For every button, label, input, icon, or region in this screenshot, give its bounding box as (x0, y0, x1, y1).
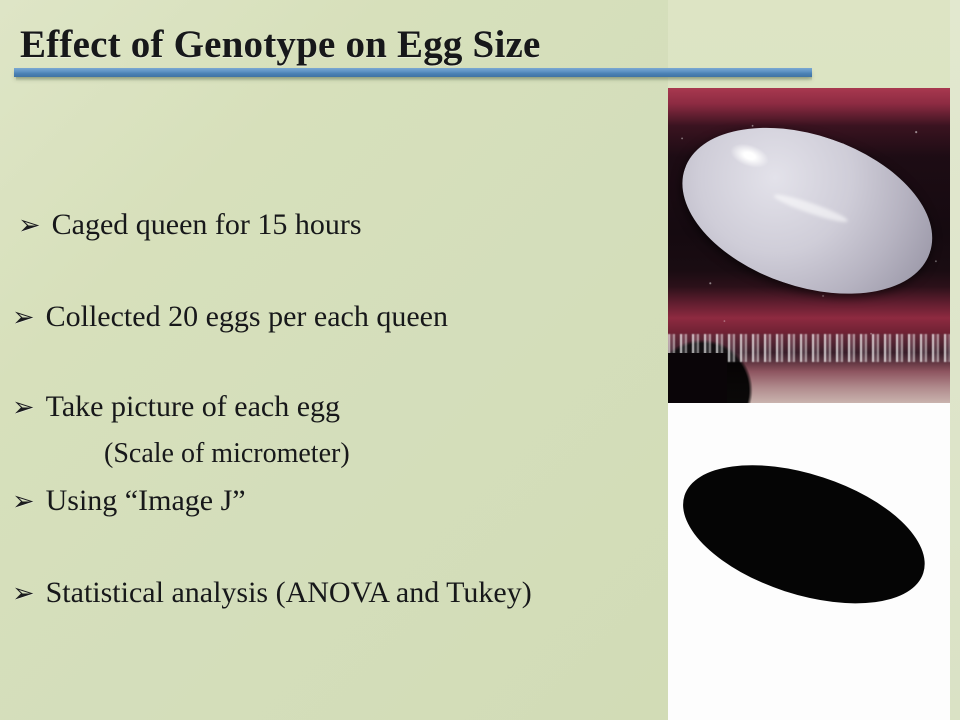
dark-corner-region (668, 353, 727, 403)
list-item-label: Caged queen for 15 hours (52, 208, 362, 242)
egg-silhouette (668, 438, 942, 630)
arrow-bullet-icon: ➢ (12, 488, 35, 515)
list-item-label: Statistical analysis (ANOVA and Tukey) (46, 576, 532, 610)
presentation-slide: Effect of Genotype on Egg Size ➢ Caged q… (0, 0, 960, 720)
arrow-bullet-icon: ➢ (12, 580, 35, 607)
list-item: ➢ Statistical analysis (ANOVA and Tukey) (12, 576, 532, 610)
bullet-list: ➢ Caged queen for 15 hours ➢ Collected 2… (0, 96, 668, 716)
arrow-bullet-icon: ➢ (12, 394, 35, 421)
scale-note-label: (Scale of micrometer) (104, 438, 350, 470)
honey-bee-egg-photograph (668, 88, 950, 403)
title-underline-bar (14, 68, 812, 77)
list-item: ➢ Using “Image J” (12, 484, 246, 518)
egg-binary-threshold-image (668, 403, 950, 720)
slide-title-block: Effect of Genotype on Egg Size (0, 0, 830, 88)
slide-right-edge-strip (950, 0, 960, 720)
arrow-bullet-icon: ➢ (12, 304, 35, 331)
list-item-label: Using “Image J” (46, 484, 246, 518)
page-title: Effect of Genotype on Egg Size (20, 22, 541, 67)
title-underline-shadow (16, 77, 812, 81)
arrow-bullet-icon: ➢ (18, 212, 41, 239)
list-item: ➢ Collected 20 eggs per each queen (12, 300, 448, 334)
list-item-label: Take picture of each egg (46, 390, 340, 424)
list-item: ➢ Caged queen for 15 hours (18, 208, 362, 242)
list-item: ➢ Take picture of each egg (12, 390, 340, 424)
list-item-label: Collected 20 eggs per each queen (46, 300, 448, 334)
